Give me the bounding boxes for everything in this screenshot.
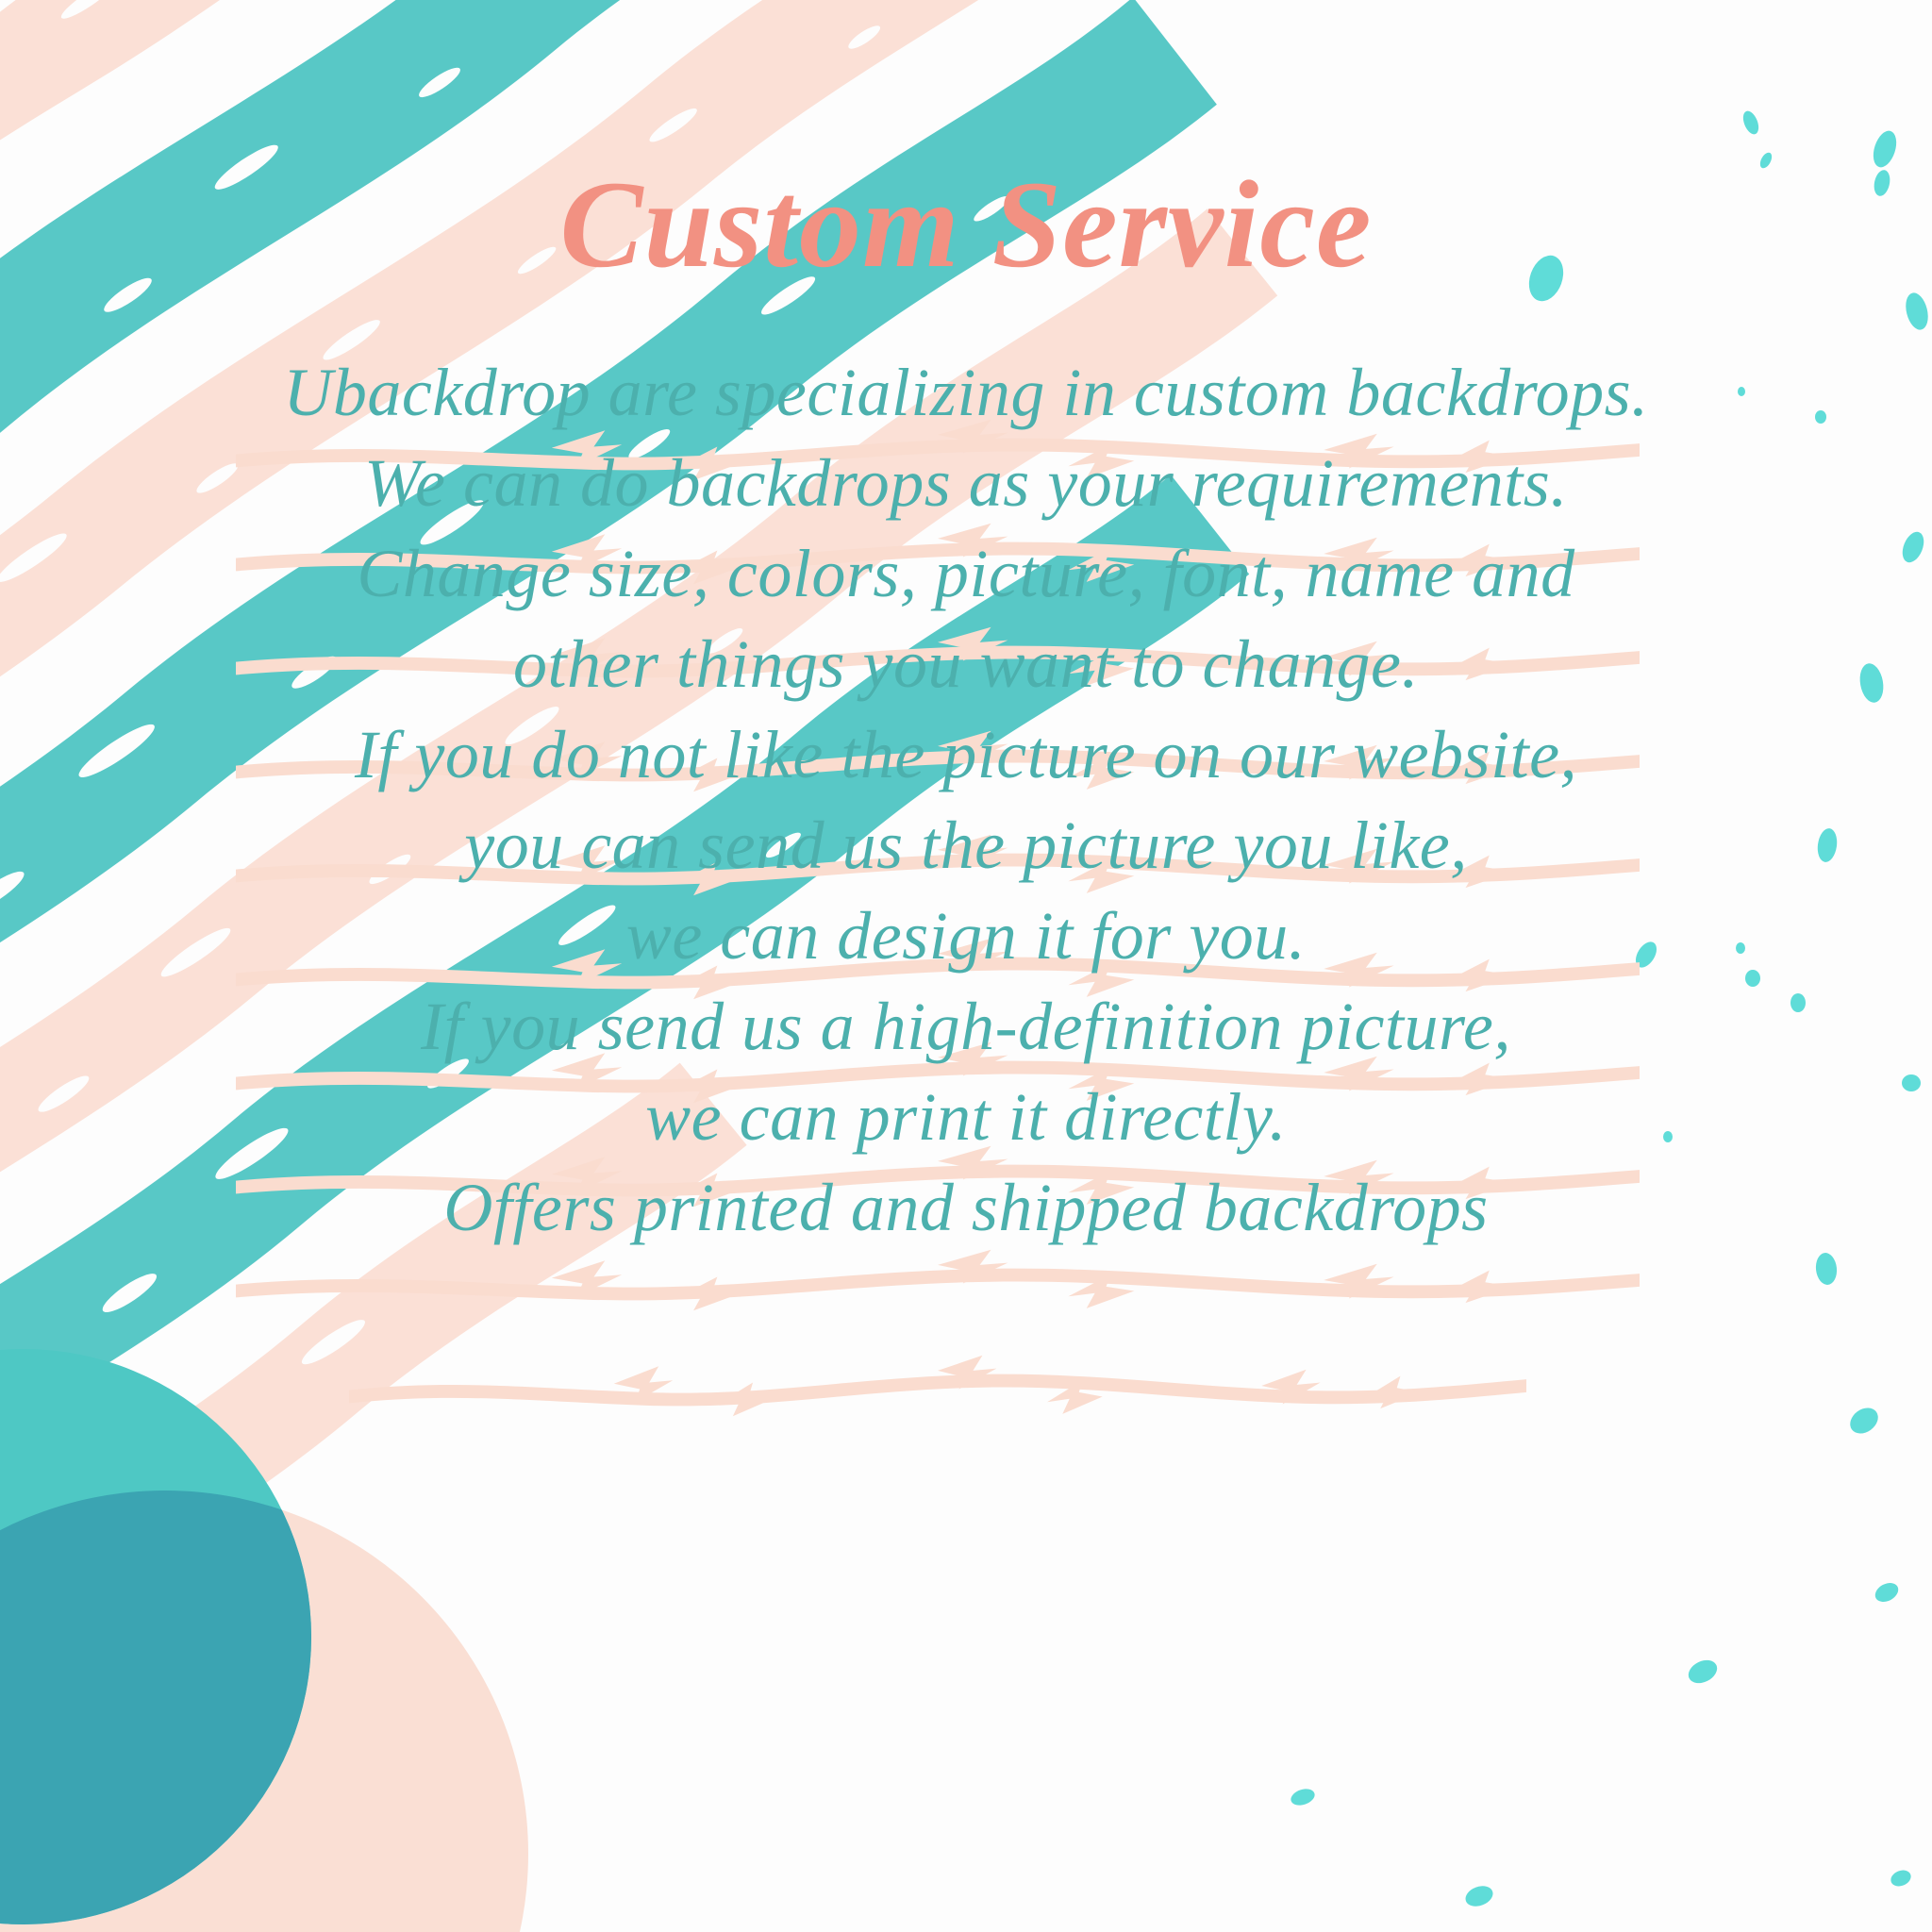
page-title-container: Custom Service bbox=[0, 162, 1932, 287]
body-line-7: we can design it for you. bbox=[0, 891, 1932, 981]
body-line-5: If you do not like the picture on our we… bbox=[0, 709, 1932, 800]
text-line-row: we can print it directly. bbox=[0, 1072, 1932, 1162]
teal-circle bbox=[0, 1349, 311, 1924]
body-text-block: Ubackdrop are specializing in custom bac… bbox=[0, 347, 1932, 1253]
body-line-9: we can print it directly. bbox=[0, 1072, 1932, 1162]
body-line-3: Change size, colors, picture, font, name… bbox=[0, 528, 1932, 619]
circle-overlap bbox=[0, 1349, 311, 1924]
poster-canvas: Custom Service Ubackdrop are specializin… bbox=[0, 0, 1932, 1932]
text-line-row: Offers printed and shipped backdrops bbox=[0, 1162, 1932, 1253]
body-line-6: you can send us the picture you like, bbox=[0, 800, 1932, 891]
text-line-row: Ubackdrop are specializing in custom bac… bbox=[0, 347, 1932, 438]
body-line-2: We can do backdrops as your requirements… bbox=[0, 438, 1932, 528]
text-line-row: other things you want to change. bbox=[0, 619, 1932, 709]
text-line-row: you can send us the picture you like, bbox=[0, 800, 1932, 891]
body-line-8: If you send us a high-definition picture… bbox=[0, 981, 1932, 1072]
body-line-4: other things you want to change. bbox=[0, 619, 1932, 709]
text-line-row: If you do not like the picture on our we… bbox=[0, 709, 1932, 800]
text-line-row: We can do backdrops as your requirements… bbox=[0, 438, 1932, 528]
pink-circle bbox=[0, 1491, 528, 1932]
divider-10 bbox=[349, 1364, 1526, 1407]
body-line-10: Offers printed and shipped backdrops bbox=[0, 1162, 1932, 1253]
text-line-row: we can design it for you. bbox=[0, 891, 1932, 981]
body-line-1: Ubackdrop are specializing in custom bac… bbox=[0, 347, 1932, 438]
divider-9 bbox=[236, 1258, 1640, 1302]
text-line-row: If you send us a high-definition picture… bbox=[0, 981, 1932, 1072]
page-title: Custom Service bbox=[560, 162, 1373, 287]
text-line-row: Change size, colors, picture, font, name… bbox=[0, 528, 1932, 619]
